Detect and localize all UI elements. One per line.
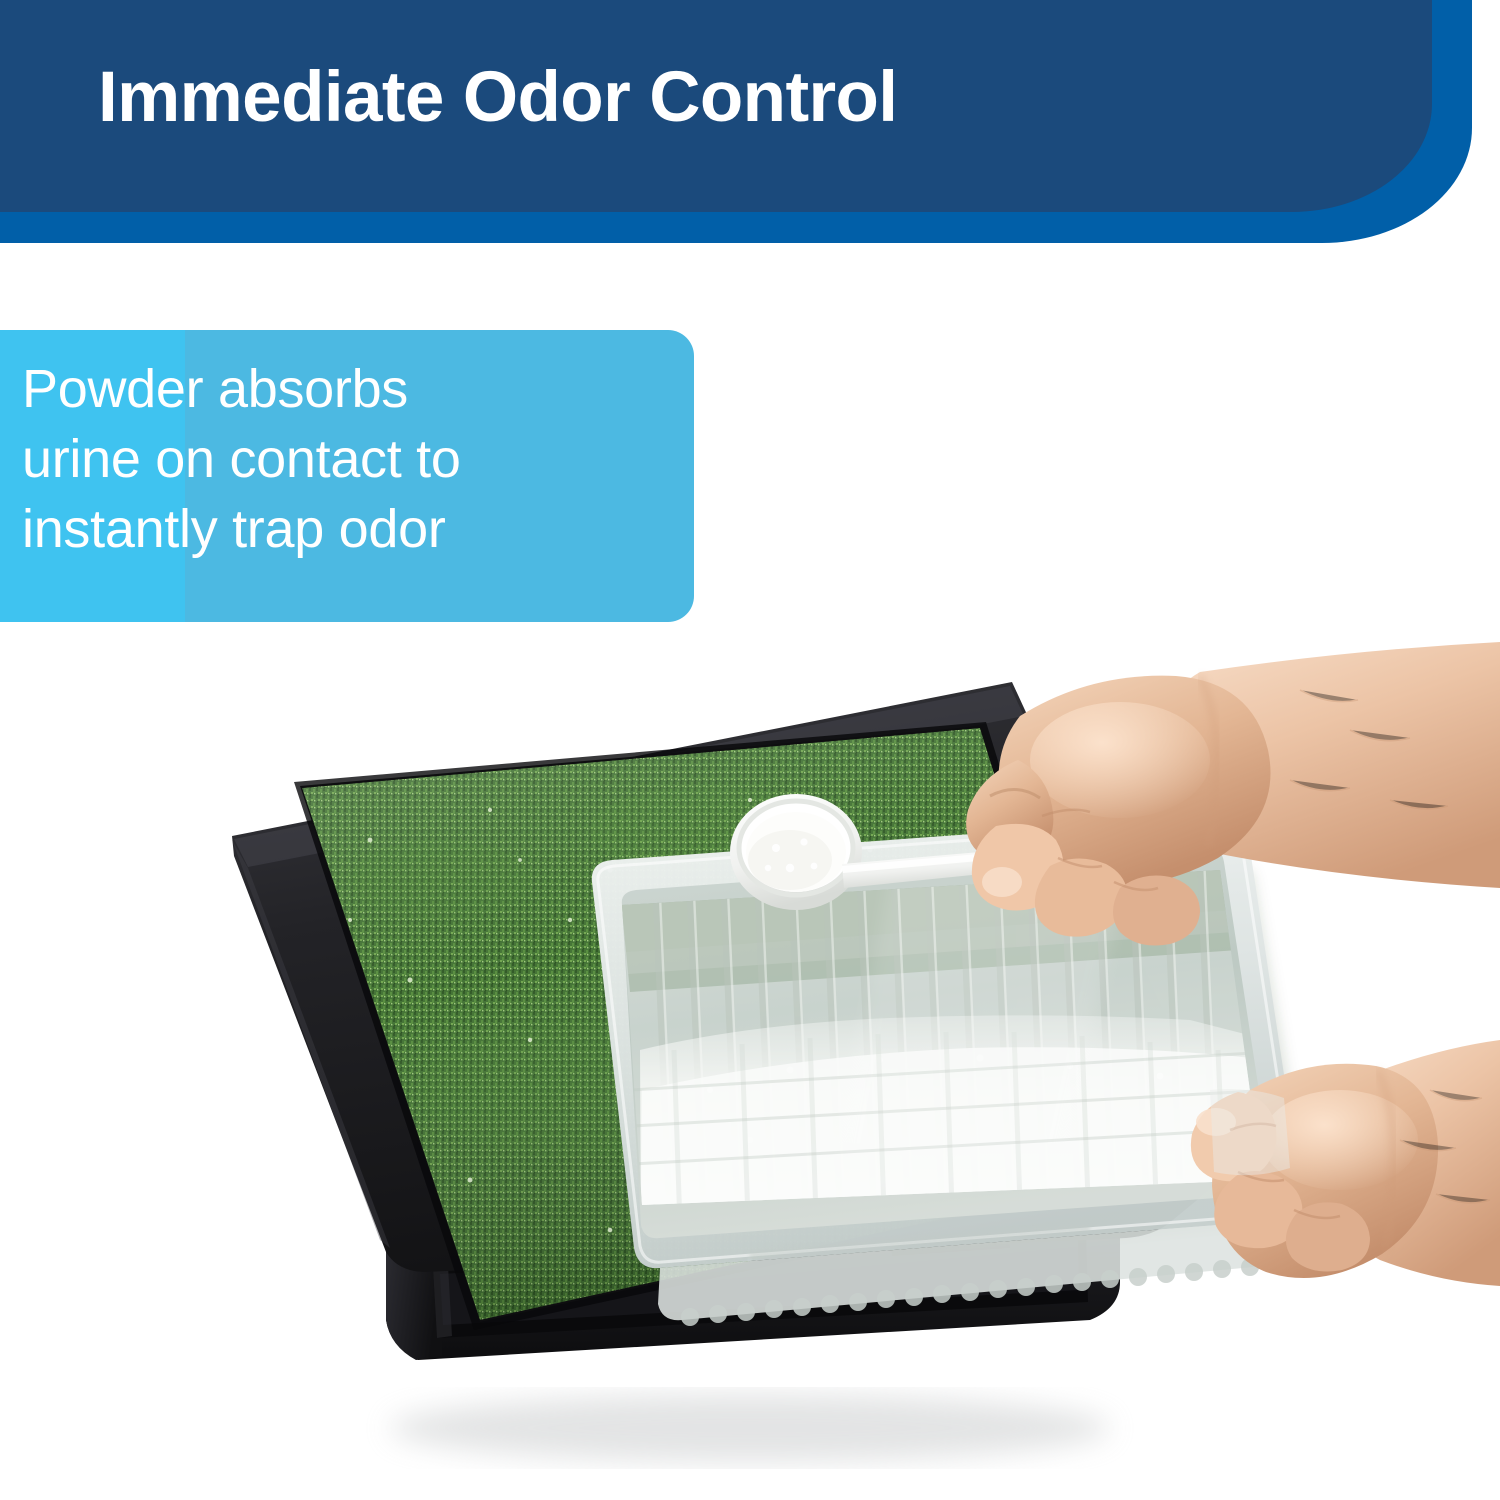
product-photo [190, 620, 1500, 1480]
page-title: Immediate Odor Control [98, 62, 897, 133]
powder-tray-group [592, 816, 1310, 1326]
feature-callout: Powder absorbs urine on contact to insta… [0, 330, 694, 622]
product-illustration [190, 620, 1500, 1480]
callout-text: Powder absorbs urine on contact to insta… [22, 354, 672, 565]
header-banner: Immediate Odor Control [0, 0, 1500, 245]
